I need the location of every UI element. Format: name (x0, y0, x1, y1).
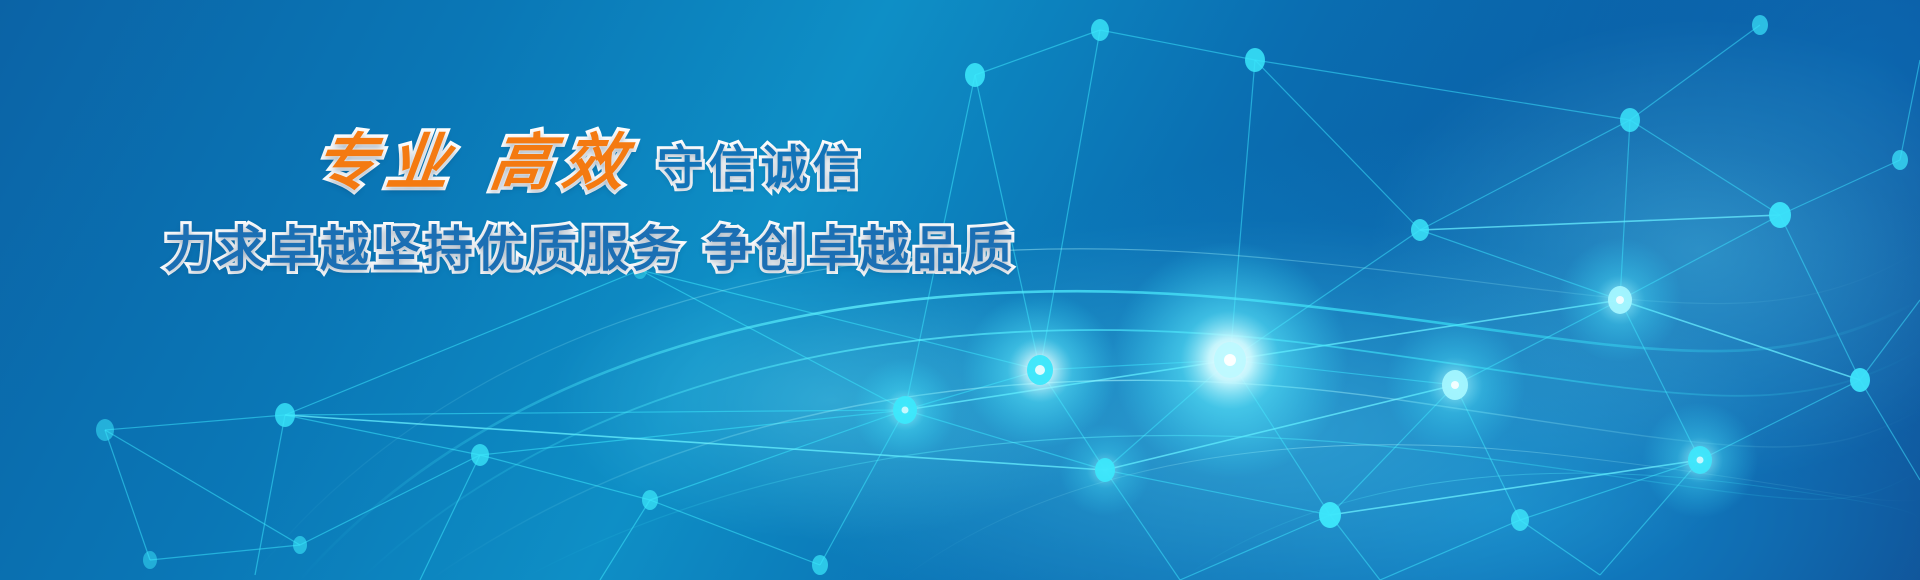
sub-headline: 力求卓越坚持优质服务 争创卓越品质 (0, 210, 1180, 281)
headline-plain-text: 守信诚信 (657, 145, 865, 192)
headline: 专业 高效 守信诚信 (0, 132, 1180, 194)
network-mesh-graphic (0, 0, 1920, 580)
headline-accent-text: 专业 高效 (311, 132, 638, 194)
hero-banner: 专业 高效 守信诚信 力求卓越坚持优质服务 争创卓越品质 (0, 0, 1920, 580)
